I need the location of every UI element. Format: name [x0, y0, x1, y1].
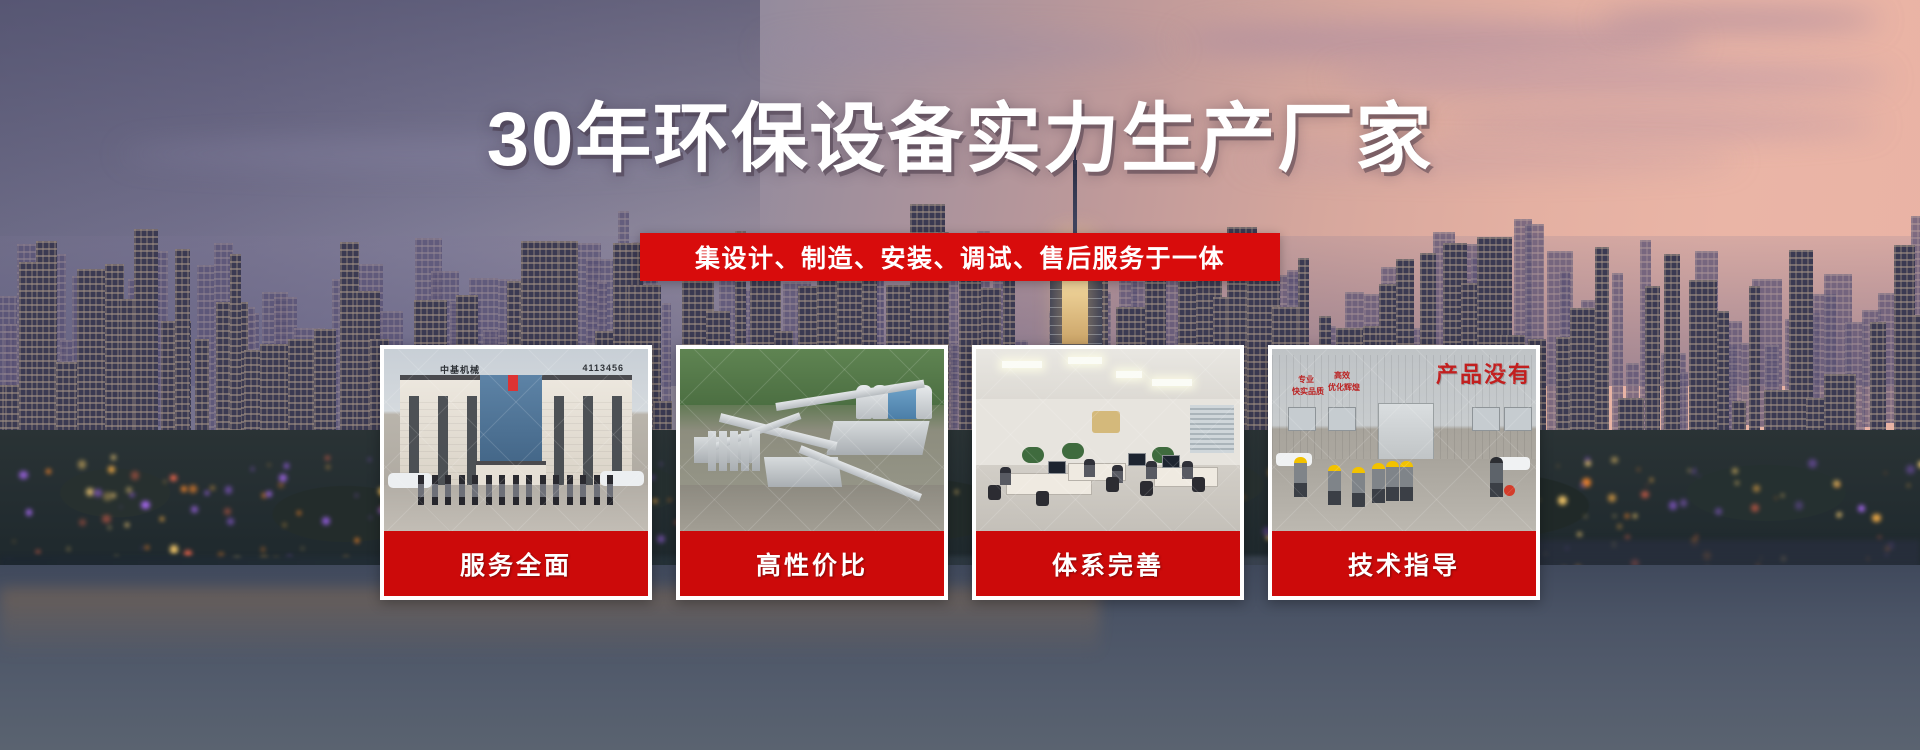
light-bokeh	[79, 519, 86, 526]
building	[1894, 245, 1915, 453]
light-bokeh	[325, 456, 329, 460]
light-bokeh	[1641, 491, 1649, 499]
worker-uniform	[1294, 463, 1307, 483]
worker-uniform	[1490, 463, 1503, 483]
national-flag	[508, 375, 518, 391]
ceiling-light-panel	[1116, 371, 1142, 378]
light-bokeh	[225, 486, 232, 493]
worker-legs	[1372, 489, 1385, 503]
light-bokeh	[141, 501, 149, 509]
light-bokeh	[284, 463, 290, 469]
factory-slogan-small: 优化辉煌	[1328, 383, 1360, 392]
card-label-bar: 高性价比	[680, 531, 944, 596]
light-bokeh	[369, 516, 372, 519]
light-bokeh	[279, 474, 287, 482]
card-label-text: 服务全面	[460, 546, 572, 582]
office-worker	[1084, 459, 1095, 477]
light-bokeh	[1613, 515, 1616, 518]
light-bokeh	[205, 491, 209, 495]
light-bokeh	[78, 460, 86, 468]
cloud-band	[760, 34, 1180, 64]
light-bokeh	[120, 506, 122, 508]
worker-legs	[1328, 491, 1341, 505]
light-bokeh	[103, 492, 111, 500]
light-bokeh	[1884, 472, 1887, 475]
building-phone-text: 4113456	[582, 363, 624, 373]
light-bokeh	[1735, 481, 1739, 485]
factory-slogan-small: 快实品质	[1292, 387, 1324, 396]
light-bokeh	[1584, 515, 1588, 519]
light-bokeh	[1611, 457, 1618, 464]
office-chair	[1192, 477, 1205, 492]
staff-figure	[472, 475, 478, 505]
worker-legs	[1294, 483, 1307, 497]
banner-headline: 30年环保设备实力生产厂家	[0, 102, 1920, 178]
factory-workers-training-photo: 产品没有 专业 快实品质 高效 优化辉煌	[1272, 349, 1536, 531]
ceiling-light-panel	[1152, 379, 1192, 386]
light-bokeh	[297, 511, 301, 515]
light-bokeh	[181, 486, 187, 492]
office-worker	[1182, 461, 1193, 479]
supervisor-figure	[1490, 457, 1503, 497]
light-bokeh	[13, 540, 16, 543]
worker-figure	[1352, 467, 1365, 507]
light-bokeh	[1837, 512, 1842, 517]
light-bokeh	[355, 538, 360, 543]
light-bokeh	[131, 471, 139, 479]
office-chair	[988, 485, 1001, 500]
office-plant	[1062, 443, 1084, 459]
factory-slogan-large: 产品没有	[1436, 357, 1532, 389]
light-bokeh	[170, 545, 179, 554]
light-bokeh	[135, 493, 137, 495]
light-bokeh	[36, 550, 39, 553]
light-bokeh	[278, 482, 284, 488]
light-bokeh	[1906, 465, 1915, 474]
light-bokeh	[1637, 468, 1640, 471]
office-window-blinds	[1190, 405, 1234, 453]
light-bokeh	[1732, 468, 1738, 474]
light-bokeh	[355, 494, 358, 497]
light-bokeh	[1698, 475, 1700, 477]
storage-silo	[916, 385, 932, 419]
card-label-text: 技术指导	[1348, 546, 1460, 582]
light-bokeh	[326, 465, 331, 470]
light-bokeh	[1907, 484, 1910, 487]
process-column	[708, 431, 716, 471]
worker-figure	[1294, 457, 1307, 497]
light-bokeh	[1646, 484, 1648, 486]
light-bokeh	[94, 489, 102, 497]
light-bokeh	[108, 466, 115, 473]
cloud-band	[1600, 8, 1880, 32]
process-column	[719, 431, 727, 471]
light-bokeh	[1795, 501, 1804, 510]
light-bokeh	[1608, 494, 1616, 502]
light-bokeh	[160, 517, 163, 520]
light-bokeh	[46, 469, 51, 474]
light-bokeh	[1878, 536, 1881, 539]
light-bokeh	[301, 547, 303, 549]
light-bokeh	[164, 480, 167, 483]
light-bokeh	[86, 488, 94, 496]
process-column	[752, 431, 760, 471]
feature-card-service[interactable]: 中基机械 4113456 服务全面	[380, 345, 652, 600]
worker-uniform	[1386, 467, 1399, 487]
factory-window	[1472, 407, 1500, 431]
ceiling-light-panel	[1068, 357, 1102, 364]
aerial-production-plant-photo	[680, 349, 944, 531]
wall-logo-decal	[1092, 411, 1120, 433]
office-worker	[1146, 461, 1157, 479]
feature-card-value[interactable]: 高性价比	[676, 345, 948, 600]
staff-figure	[513, 475, 519, 505]
worker-legs	[1400, 487, 1413, 501]
light-bokeh	[1808, 459, 1816, 467]
staff-figure	[594, 475, 600, 505]
staff-lineup	[418, 475, 618, 509]
light-bokeh	[26, 509, 33, 516]
staff-figure	[567, 475, 573, 505]
card-label-text: 高性价比	[756, 546, 868, 582]
worker-uniform	[1372, 469, 1385, 489]
office-chair	[1036, 491, 1049, 506]
subtitle-text: 集设计、制造、安装、调试、售后服务于一体	[695, 239, 1225, 275]
light-bokeh	[251, 467, 254, 470]
light-bokeh	[125, 523, 129, 527]
light-bokeh	[111, 455, 116, 460]
building	[19, 262, 38, 454]
light-bokeh	[210, 486, 214, 490]
light-bokeh	[266, 491, 272, 497]
light-bokeh	[268, 464, 271, 467]
building-sign-text: 中基机械	[440, 363, 480, 376]
office-chair	[1106, 477, 1119, 492]
staff-figure	[499, 475, 505, 505]
staff-figure	[432, 475, 438, 505]
factory-window	[1504, 407, 1532, 431]
light-bokeh	[1680, 499, 1687, 506]
cloud-band	[1330, 62, 1890, 96]
light-bokeh	[1617, 524, 1622, 529]
light-bokeh	[283, 523, 287, 527]
light-bokeh	[368, 458, 371, 461]
worker-uniform	[1400, 467, 1413, 487]
light-bokeh	[145, 546, 149, 550]
card-label-bar: 服务全面	[384, 531, 648, 596]
worker-figure	[1372, 463, 1385, 503]
light-bokeh	[1633, 514, 1637, 518]
staff-figure	[418, 475, 424, 505]
light-bokeh	[1625, 514, 1629, 518]
staff-figure	[486, 475, 492, 505]
light-bokeh	[191, 506, 198, 513]
ceiling-light-panel	[1002, 361, 1042, 368]
light-bokeh	[1775, 497, 1777, 499]
plant-workshop	[826, 421, 929, 455]
light-bokeh	[126, 487, 132, 493]
light-bokeh	[322, 517, 330, 525]
light-bokeh	[1753, 485, 1759, 491]
open-plan-office-photo	[976, 349, 1240, 531]
card-label-bar: 体系完善	[976, 531, 1240, 596]
factory-slogan-small: 专业	[1298, 375, 1314, 384]
worker-uniform	[1352, 473, 1365, 493]
worker-figure	[1328, 465, 1341, 505]
staff-figure	[445, 475, 451, 505]
light-bokeh	[1715, 508, 1722, 515]
staff-figure	[580, 475, 586, 505]
staff-figure	[540, 475, 546, 505]
card-label-text: 体系完善	[1052, 546, 1164, 582]
factory-door	[1378, 403, 1434, 461]
office-ceiling	[976, 349, 1240, 399]
card-label-bar: 技术指导	[1272, 531, 1536, 596]
computer-monitor	[1128, 453, 1146, 466]
office-worker	[1000, 467, 1011, 485]
light-bokeh	[1669, 501, 1677, 509]
worker-legs	[1352, 493, 1365, 507]
light-bokeh	[108, 526, 111, 529]
office-plant	[1022, 447, 1044, 463]
feature-card-guidance[interactable]: 产品没有 专业 快实品质 高效 优化辉煌 技术指导	[1268, 345, 1540, 600]
hero-banner: 30年环保设备实力生产厂家 集设计、制造、安装、调试、售后服务于一体 中基机械 …	[0, 0, 1920, 750]
worker-figure	[1386, 461, 1399, 501]
light-bokeh	[102, 515, 110, 523]
company-office-building-photo: 中基机械 4113456	[384, 349, 648, 531]
light-bokeh	[19, 471, 27, 479]
light-bokeh	[67, 547, 71, 551]
office-chair	[1140, 481, 1153, 496]
light-bokeh	[1650, 478, 1654, 482]
process-column	[730, 431, 738, 471]
light-bokeh	[1781, 494, 1784, 497]
staff-figure	[553, 475, 559, 505]
worker-legs	[1490, 483, 1503, 497]
light-bokeh	[1692, 470, 1697, 475]
staff-figure	[459, 475, 465, 505]
worker-legs	[1386, 487, 1399, 501]
factory-slogan-small: 高效	[1334, 371, 1350, 380]
worker-figure	[1400, 461, 1413, 501]
staff-figure	[526, 475, 532, 505]
light-bokeh	[130, 493, 134, 497]
factory-window	[1328, 407, 1356, 431]
factory-window	[1288, 407, 1316, 431]
light-bokeh	[141, 547, 143, 549]
process-column	[741, 431, 749, 471]
building	[134, 229, 158, 457]
light-bokeh	[1872, 514, 1881, 523]
computer-monitor	[1162, 455, 1180, 468]
light-bokeh	[189, 485, 197, 493]
feature-card-system[interactable]: 体系完善	[972, 345, 1244, 600]
light-bokeh	[1577, 532, 1583, 538]
light-bokeh	[1558, 496, 1566, 504]
light-bokeh	[1688, 469, 1691, 472]
computer-monitor	[1048, 461, 1066, 474]
subtitle-red-bar: 集设计、制造、安装、调试、售后服务于一体	[640, 233, 1280, 281]
light-bokeh	[1751, 504, 1759, 512]
light-bokeh	[111, 493, 116, 498]
red-helmet-icon	[1504, 485, 1515, 496]
light-bokeh	[170, 475, 176, 481]
light-bokeh	[224, 508, 231, 515]
light-bokeh	[1585, 461, 1590, 466]
light-bokeh	[227, 518, 233, 524]
light-bokeh	[261, 547, 266, 552]
light-bokeh	[1858, 505, 1865, 512]
staff-figure	[607, 475, 613, 505]
light-bokeh	[1557, 465, 1559, 467]
feature-card-row: 中基机械 4113456 服务全面 高性价比	[380, 345, 1555, 600]
worker-uniform	[1328, 471, 1341, 491]
light-bokeh	[1580, 483, 1585, 488]
